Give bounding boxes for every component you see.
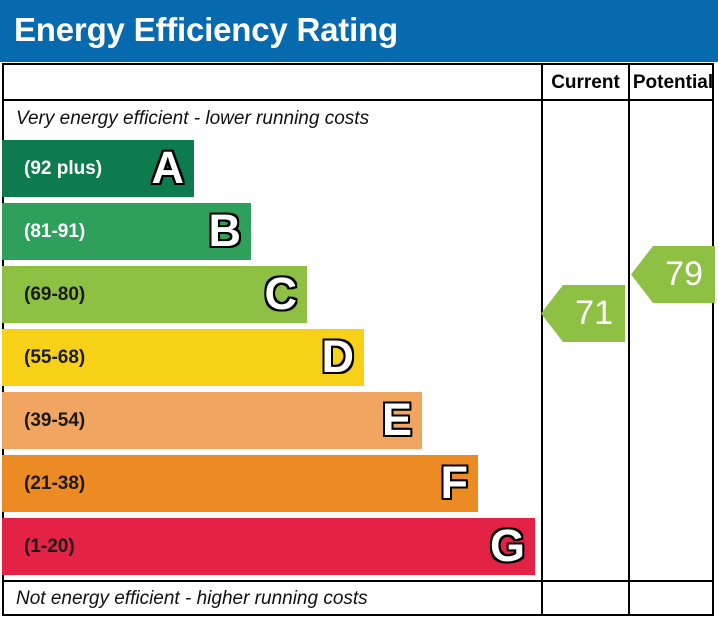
header-row-divider [2,99,714,101]
band-letter-e: E [382,392,412,449]
band-range-g: (1-20) [24,518,75,575]
rating-band-b: (81-91)B [2,203,251,260]
band-range-b: (81-91) [24,203,85,260]
band-letter-a: A [152,140,185,197]
rating-value-current: 71 [575,285,613,342]
band-range-e: (39-54) [24,392,85,449]
caption-not-efficient: Not energy efficient - higher running co… [16,588,368,610]
band-letter-g: G [490,518,525,575]
rating-band-e: (39-54)E [2,392,422,449]
rating-band-f: (21-38)F [2,455,478,512]
rating-value-potential: 79 [665,246,703,303]
page-title: Energy Efficiency Rating [14,8,398,52]
energy-efficiency-rating-chart: Energy Efficiency Rating Current Potenti… [0,0,718,619]
column-header-potential: Potential [630,70,716,96]
rating-band-d: (55-68)D [2,329,364,386]
band-range-a: (92 plus) [24,140,102,197]
rating-arrow-potential: 79 [631,246,715,303]
band-range-d: (55-68) [24,329,85,386]
rating-band-a: (92 plus)A [2,140,194,197]
band-letter-c: C [265,266,298,323]
caption-very-efficient: Very energy efficient - lower running co… [16,108,369,130]
column-header-current: Current [543,70,628,96]
rating-band-c: (69-80)C [2,266,307,323]
band-letter-d: D [322,329,355,386]
footer-row-divider [2,580,714,582]
band-letter-f: F [441,455,469,512]
band-range-f: (21-38) [24,455,85,512]
rating-band-g: (1-20)G [2,518,535,575]
chart-title-bar: Energy Efficiency Rating [0,0,718,62]
band-range-c: (69-80) [24,266,85,323]
rating-arrow-current: 71 [541,285,625,342]
band-letter-b: B [209,203,242,260]
potential-column-divider [628,63,630,616]
